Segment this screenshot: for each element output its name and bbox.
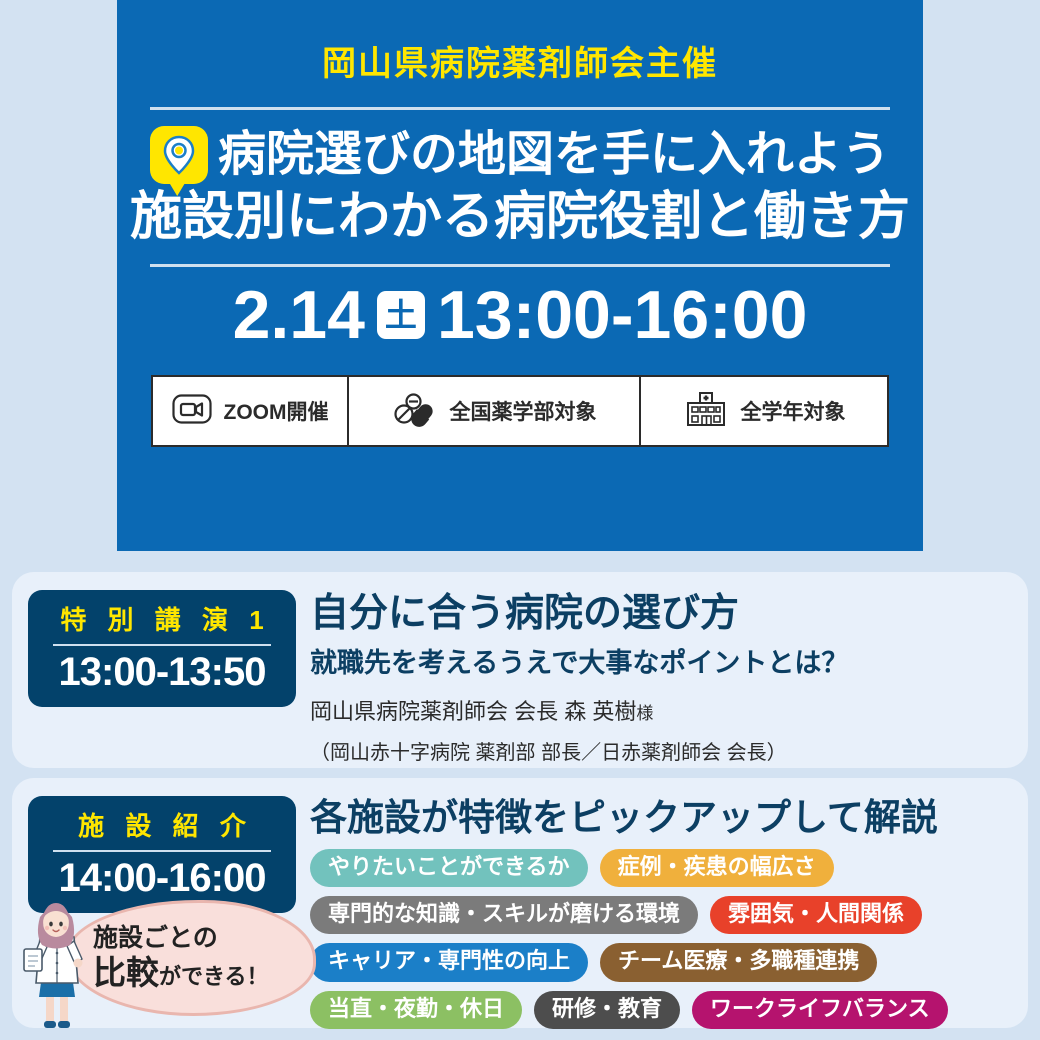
session-1-time-chip: 特 別 講 演 1 13:00-13:50 bbox=[28, 590, 296, 707]
session-1-speaker-name: 岡山県病院薬剤師会 会長 森 英樹 bbox=[310, 699, 636, 724]
feature-tag: キャリア・専門性の向上 bbox=[310, 943, 588, 981]
pharmacist-character-icon bbox=[20, 893, 92, 1033]
session-1-title: 自分に合う病院の選び方 bbox=[310, 592, 1012, 637]
callout-line-1: 施設ごとの bbox=[93, 925, 313, 953]
feature-tag-row: 専門的な知識・スキルが磨ける環境 雰囲気・人間関係 bbox=[310, 896, 1012, 934]
title-row-1: 病院選びの地図を手に入れよう bbox=[150, 126, 890, 184]
session-2-body: 各施設が特徴をピックアップして解説 やりたいことができるか 症例・疾患の幅広さ … bbox=[310, 796, 1012, 1010]
host-organization: 岡山県病院薬剤師会主催 bbox=[322, 36, 718, 85]
badge-zoom: ZOOM開催 bbox=[153, 377, 349, 445]
feature-tag-row: キャリア・専門性の向上 チーム医療・多職種連携 bbox=[310, 943, 1012, 981]
feature-tag: やりたいことができるか bbox=[310, 849, 588, 887]
poster-root: 岡山県病院薬剤師会主催 病院選びの地図を手に入れよう 施設別にわかる病院役割と働… bbox=[0, 0, 1040, 1040]
session-1-chip-divider bbox=[53, 644, 271, 646]
session-2-chip-divider bbox=[53, 850, 271, 852]
feature-tag: ワークライフバランス bbox=[692, 991, 948, 1029]
session-2-kicker: 施 設 紹 介 bbox=[71, 806, 253, 843]
feature-tag: 研修・教育 bbox=[534, 991, 680, 1029]
event-date: 2.14 bbox=[233, 281, 365, 349]
badge-all-grades: 全学年対象 bbox=[641, 377, 887, 445]
badge-zoom-label: ZOOM開催 bbox=[224, 396, 329, 426]
pill-capsule-icon bbox=[392, 391, 438, 432]
feature-tag-row: やりたいことができるか 症例・疾患の幅広さ bbox=[310, 849, 1012, 887]
badge-target-faculty-label: 全国薬学部対象 bbox=[450, 396, 597, 426]
session-1-body: 自分に合う病院の選び方 就職先を考えるうえで大事なポイントとは？ 岡山県病院薬剤… bbox=[310, 590, 1012, 750]
session-1-speaker: 岡山県病院薬剤師会 会長 森 英樹様 bbox=[310, 694, 1012, 726]
badge-target-faculty: 全国薬学部対象 bbox=[349, 377, 641, 445]
hero-panel: 岡山県病院薬剤師会主催 病院選びの地図を手に入れよう 施設別にわかる病院役割と働… bbox=[117, 0, 923, 551]
feature-tag: 当直・夜勤・休日 bbox=[310, 991, 522, 1029]
hero-divider-top bbox=[150, 107, 890, 110]
session-card-1: 特 別 講 演 1 13:00-13:50 自分に合う病院の選び方 就職先を考え… bbox=[12, 572, 1028, 768]
hero-title-line2: 施設別にわかる病院役割と働き方 bbox=[130, 188, 910, 246]
event-datetime: 2.14 土 13:00-16:00 bbox=[233, 281, 808, 349]
feature-tag-row: 当直・夜勤・休日 研修・教育 ワークライフバランス bbox=[310, 991, 1012, 1029]
feature-tag: チーム医療・多職種連携 bbox=[600, 943, 877, 981]
feature-tag: 雰囲気・人間関係 bbox=[710, 896, 922, 934]
badge-all-grades-label: 全学年対象 bbox=[741, 396, 846, 426]
session-1-kicker: 特 別 講 演 1 bbox=[53, 600, 270, 637]
callout-line-2-rest: ができる！ bbox=[159, 964, 269, 989]
video-camera-icon bbox=[172, 394, 212, 429]
event-time: 13:00-16:00 bbox=[437, 281, 807, 349]
callout-line-2: 比較ができる！ bbox=[93, 955, 313, 991]
feature-tag-list: やりたいことができるか 症例・疾患の幅広さ 専門的な知識・スキルが磨ける環境 雰… bbox=[310, 849, 1012, 1030]
session-1-affiliation: （岡山赤十字病院 薬剤部 部長／日赤薬剤師会 会長） bbox=[310, 736, 1012, 765]
hero-title-block: 病院選びの地図を手に入れよう 施設別にわかる病院役割と働き方 bbox=[125, 126, 915, 246]
session-1-speaker-suffix: 様 bbox=[636, 704, 653, 723]
map-pin-icon bbox=[150, 126, 208, 184]
session-1-time: 13:00-13:50 bbox=[59, 650, 266, 695]
callout-emphasis: 比較 bbox=[93, 954, 159, 991]
hero-badge-strip: ZOOM開催 全国薬学部対象 bbox=[151, 375, 889, 447]
feature-tag: 専門的な知識・スキルが磨ける環境 bbox=[310, 896, 698, 934]
session-2-title: 各施設が特徴をピックアップして解説 bbox=[310, 798, 1012, 839]
session-1-subtitle: 就職先を考えるうえで大事なポイントとは？ bbox=[310, 641, 1012, 680]
feature-tag: 症例・疾患の幅広さ bbox=[600, 849, 834, 887]
hero-divider-bottom bbox=[150, 264, 890, 267]
event-weekday-badge: 土 bbox=[377, 291, 425, 339]
hero-title-line1: 病院選びの地図を手に入れよう bbox=[218, 128, 890, 182]
hospital-building-icon bbox=[683, 391, 729, 432]
title-row-2: 施設別にわかる病院役割と働き方 bbox=[130, 188, 910, 246]
